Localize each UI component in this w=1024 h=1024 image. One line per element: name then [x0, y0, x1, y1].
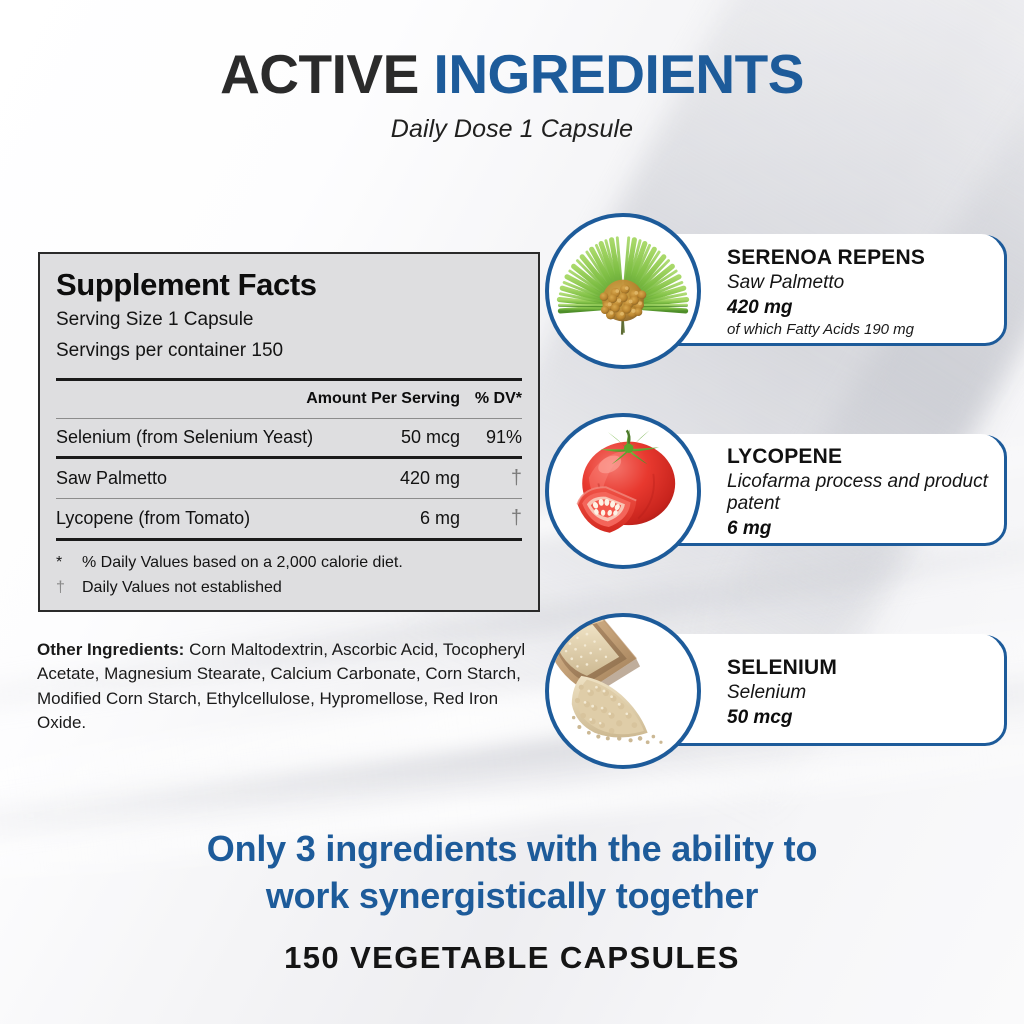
supplement-facts-panel: Supplement Facts Serving Size 1 Capsule …: [38, 252, 540, 612]
servings-per-container-text: Servings per container 150: [56, 338, 522, 365]
header: ACTIVE INGREDIENTS Daily Dose 1 Capsule: [0, 0, 1024, 144]
ingredient-alt-name: Saw Palmetto: [727, 272, 993, 294]
footnote-item: * % Daily Values based on a 2,000 calori…: [56, 550, 522, 575]
nutrient-name: Lycopene (from Tomato): [56, 508, 368, 529]
ingredient-note: of which Fatty Acids 190 mg: [727, 321, 993, 339]
supplement-facts-title: Supplement Facts: [56, 268, 522, 303]
nutrient-amount: 420 mg: [368, 468, 460, 489]
card-text: SELENIUM Selenium 50 mcg: [727, 641, 993, 744]
tomato-image: [549, 417, 697, 565]
infographic-page: ACTIVE INGREDIENTS Daily Dose 1 Capsule …: [0, 0, 1024, 1024]
selenium-yeast-scoop-image: [549, 617, 697, 765]
other-ingredients-label: Other Ingredients:: [37, 640, 184, 659]
nutrient-dv: †: [460, 467, 522, 490]
tagline-line-1: Only 3 ingredients with the ability to: [0, 826, 1024, 873]
list-item[interactable]: SELENIUM Selenium 50 mcg: [545, 613, 1015, 768]
ingredient-name: LYCOPENE: [727, 445, 993, 470]
page-subtitle: Daily Dose 1 Capsule: [0, 115, 1024, 144]
footnote-item: † Daily Values not established: [56, 575, 522, 600]
table-row: Lycopene (from Tomato) 6 mg †: [56, 499, 522, 538]
page-title-part-ingredients: INGREDIENTS: [434, 43, 804, 105]
capsule-count: 150 VEGETABLE CAPSULES: [0, 940, 1024, 976]
selenium-yeast-scoop-icon: [545, 613, 701, 769]
nutrient-dv: †: [460, 507, 522, 530]
ingredient-cards-list: SERENOA REPENS Saw Palmetto 420 mg of wh…: [545, 213, 1015, 768]
ingredient-name: SELENIUM: [727, 656, 993, 681]
ingredient-alt-name: Selenium: [727, 682, 993, 704]
table-row: Saw Palmetto 420 mg †: [56, 459, 522, 498]
saw-palmetto-leaf-image: [549, 217, 697, 365]
ingredient-name: SERENOA REPENS: [727, 246, 993, 271]
nutrient-name: Selenium (from Selenium Yeast): [56, 427, 368, 448]
table-row: Selenium (from Selenium Yeast) 50 mcg 91…: [56, 419, 522, 456]
tagline-line-2: work synergistically together: [0, 873, 1024, 920]
list-item[interactable]: LYCOPENE Licofarma process and product p…: [545, 413, 1015, 568]
serving-size-text: Serving Size 1 Capsule: [56, 307, 522, 334]
ingredient-alt-name: Licofarma process and product patent: [727, 471, 993, 515]
card-text: SERENOA REPENS Saw Palmetto 420 mg of wh…: [727, 241, 993, 344]
column-header-amount: Amount Per Serving: [254, 390, 460, 408]
footer: Only 3 ingredients with the ability to w…: [0, 826, 1024, 976]
list-item[interactable]: SERENOA REPENS Saw Palmetto 420 mg of wh…: [545, 213, 1015, 368]
page-title: ACTIVE INGREDIENTS: [0, 47, 1024, 102]
column-header-dv: % DV*: [460, 390, 522, 408]
nutrient-amount: 6 mg: [368, 508, 460, 529]
nutrient-dv: 91%: [460, 427, 522, 448]
ingredient-dose: 420 mg: [727, 297, 993, 320]
table-column-headers: Amount Per Serving % DV*: [56, 381, 522, 418]
footnote-text: % Daily Values based on a 2,000 calorie …: [82, 550, 403, 575]
other-ingredients-block: Other Ingredients: Corn Maltodextrin, As…: [37, 638, 527, 736]
page-title-part-active: ACTIVE: [220, 43, 419, 105]
ingredient-dose: 50 mcg: [727, 707, 993, 730]
footnote-marker: *: [56, 550, 82, 575]
nutrient-amount: 50 mcg: [368, 427, 460, 448]
footnote-text: Daily Values not established: [82, 575, 282, 600]
nutrient-name: Saw Palmetto: [56, 468, 368, 489]
card-text: LYCOPENE Licofarma process and product p…: [727, 441, 993, 544]
ingredient-dose: 6 mg: [727, 518, 993, 541]
tomato-icon: [545, 413, 701, 569]
saw-palmetto-leaf-icon: [545, 213, 701, 369]
footnotes: * % Daily Values based on a 2,000 calori…: [56, 541, 522, 601]
footnote-marker: †: [56, 575, 82, 600]
